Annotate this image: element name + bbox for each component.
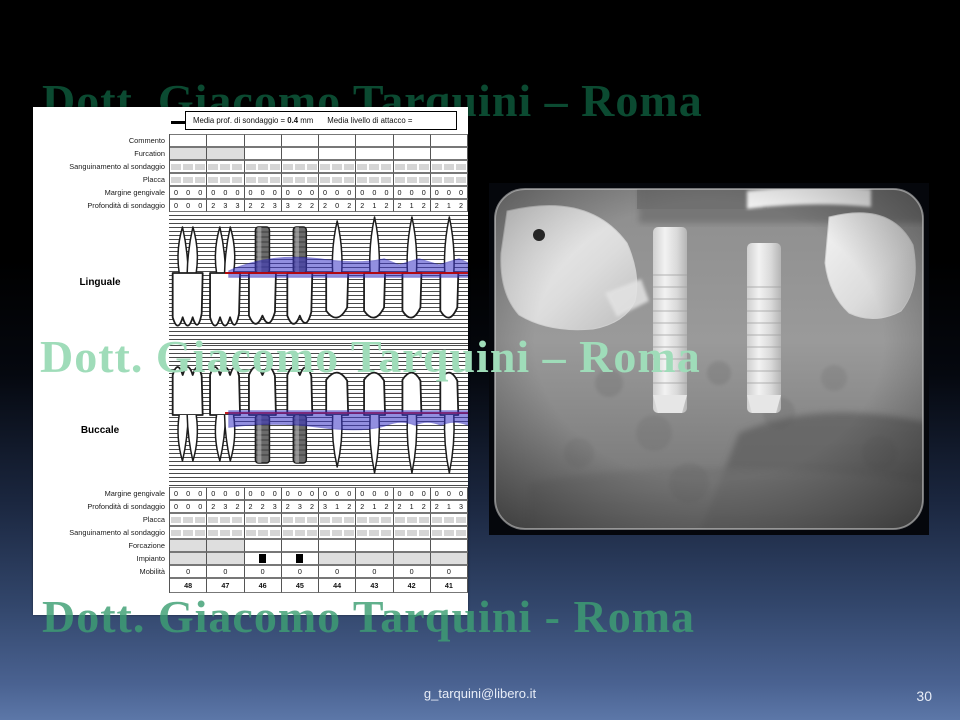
measurement-value: 1	[368, 501, 380, 512]
score-box[interactable]	[444, 164, 454, 170]
tooth-cell: 202	[319, 199, 356, 212]
tooth-cell: 212	[356, 500, 393, 513]
row-cells	[169, 539, 468, 552]
tooth-cell	[170, 526, 207, 539]
measurement-value: 0	[418, 187, 430, 198]
measurement-value: 0	[257, 488, 269, 499]
measurement-value: 2	[294, 200, 306, 211]
tooth-cell	[394, 160, 431, 173]
tooth-number: 45	[282, 579, 318, 592]
score-box[interactable]	[183, 517, 193, 523]
upper-measurements-table: CommentoFurcationSanguinamento al sondag…	[33, 134, 468, 212]
score-box[interactable]	[246, 530, 256, 536]
measurement-value: 0	[406, 488, 418, 499]
score-box[interactable]	[344, 164, 354, 170]
tooth-cell	[431, 147, 468, 160]
tooth-cell	[170, 160, 207, 173]
score-box[interactable]	[258, 164, 268, 170]
chart-row-profondita: Profondità di sondaggio00023222323231221…	[33, 500, 468, 513]
tooth-cell: 000	[394, 186, 431, 199]
tooth-cell	[207, 526, 244, 539]
periapical-radiograph-image	[489, 183, 929, 535]
measurement-value: 2	[257, 200, 269, 211]
measurement-value: 2	[394, 200, 406, 211]
tooth-cell: 000	[170, 186, 207, 199]
tooth-cell	[394, 134, 431, 147]
score-box[interactable]	[208, 530, 218, 536]
implant-marker	[259, 554, 266, 563]
tooth-cell: 232	[282, 500, 319, 513]
tooth-number-cell[interactable]: 48	[170, 578, 207, 593]
mobility-value: 0	[394, 566, 430, 577]
measurement-value: 0	[257, 187, 269, 198]
score-box[interactable]	[381, 177, 391, 183]
measurement-value: 0	[294, 488, 306, 499]
score-box[interactable]	[283, 517, 293, 523]
tooth-cell	[394, 552, 431, 565]
measurement-value: 0	[331, 200, 343, 211]
measurement-value: 0	[207, 187, 219, 198]
measurement-value: 0	[368, 488, 380, 499]
tooth-cell	[282, 147, 319, 160]
tooth-number-cell[interactable]: 45	[282, 578, 319, 593]
measurement-value: 2	[306, 501, 318, 512]
tooth-cell	[282, 134, 319, 147]
measurement-value: 2	[380, 501, 392, 512]
tooth-cell	[431, 552, 468, 565]
measurement-value: 2	[431, 200, 443, 211]
implant-marker	[296, 554, 303, 563]
tooth-cell	[207, 513, 244, 526]
tooth-cell	[207, 552, 244, 565]
measurement-value: 0	[431, 187, 443, 198]
tooth-cell	[207, 160, 244, 173]
score-box[interactable]	[456, 164, 466, 170]
measurement-value: 0	[443, 187, 455, 198]
measurement-value: 1	[406, 200, 418, 211]
score-box[interactable]	[320, 164, 330, 170]
score-box[interactable]	[171, 177, 181, 183]
tooth-cell	[245, 147, 282, 160]
score-box[interactable]	[183, 530, 193, 536]
chart-row-tooth-numbers: 4847464544434241	[33, 578, 468, 593]
measurement-value: 0	[356, 488, 368, 499]
measurement-value: 2	[207, 200, 219, 211]
tooth-cell: 000	[170, 500, 207, 513]
tooth-cell	[394, 173, 431, 186]
measurement-value: 3	[319, 501, 331, 512]
score-box[interactable]	[307, 177, 317, 183]
score-box[interactable]	[258, 177, 268, 183]
measurement-value: 2	[319, 200, 331, 211]
chart-row-margine: Margine gengivale00000000000000000000000…	[33, 487, 468, 500]
score-box[interactable]	[270, 530, 280, 536]
tooth-cell: 000	[245, 186, 282, 199]
score-box[interactable]	[195, 164, 205, 170]
measurement-value: 3	[294, 501, 306, 512]
footer-email: g_tarquini@libero.it	[0, 686, 960, 701]
tooth-cell: 000	[282, 186, 319, 199]
score-box[interactable]	[332, 177, 342, 183]
score-box[interactable]	[419, 530, 429, 536]
score-box[interactable]	[246, 164, 256, 170]
row-cells: 000000000000000000000000	[169, 186, 468, 199]
row-cells	[169, 173, 468, 186]
tooth-cell	[431, 160, 468, 173]
score-box[interactable]	[320, 530, 330, 536]
score-box[interactable]	[456, 517, 466, 523]
score-box[interactable]	[220, 517, 230, 523]
score-box[interactable]	[232, 177, 242, 183]
row-cells	[169, 134, 468, 147]
measurement-value: 0	[343, 187, 355, 198]
measurement-value: 0	[207, 488, 219, 499]
measurement-value: 2	[356, 501, 368, 512]
tooth-cell	[356, 134, 393, 147]
measurement-value: 1	[443, 501, 455, 512]
score-box[interactable]	[270, 177, 280, 183]
tooth-cell: 312	[319, 500, 356, 513]
score-box[interactable]	[419, 517, 429, 523]
score-box[interactable]	[332, 530, 342, 536]
row-label: Furcation	[33, 147, 169, 160]
tooth-cell	[394, 147, 431, 160]
tooth-cell: 0	[319, 565, 356, 578]
score-box[interactable]	[432, 164, 442, 170]
score-box[interactable]	[208, 177, 218, 183]
tooth-number-cell[interactable]: 41	[431, 578, 468, 593]
lower-measurements-table: Margine gengivale00000000000000000000000…	[33, 487, 468, 578]
score-box[interactable]	[171, 530, 181, 536]
score-box[interactable]	[381, 164, 391, 170]
mobility-value: 0	[245, 566, 281, 577]
score-box[interactable]	[381, 530, 391, 536]
score-box[interactable]	[320, 517, 330, 523]
score-box[interactable]	[195, 177, 205, 183]
tooth-cell: 000	[319, 487, 356, 500]
row-label: Placca	[33, 173, 169, 186]
tooth-cell	[431, 526, 468, 539]
row-label: Sanguinamento al sondaggio	[33, 526, 169, 539]
measurement-value: 2	[245, 501, 257, 512]
measurement-value: 2	[380, 200, 392, 211]
score-box[interactable]	[295, 177, 305, 183]
mean-probing-label: Media prof. di sondaggio =	[193, 116, 285, 125]
measurement-value: 0	[331, 187, 343, 198]
mobility-value: 0	[356, 566, 392, 577]
measurement-value: 2	[306, 200, 318, 211]
page-number: 30	[916, 688, 932, 704]
tooth-cell	[282, 173, 319, 186]
measurement-value: 0	[194, 488, 206, 499]
score-box[interactable]	[283, 530, 293, 536]
measurement-value: 0	[194, 187, 206, 198]
score-box[interactable]	[220, 530, 230, 536]
measurement-value: 0	[306, 187, 318, 198]
tooth-number: 42	[394, 579, 430, 592]
tooth-cell	[245, 526, 282, 539]
tooth-cell: 212	[356, 199, 393, 212]
score-box[interactable]	[357, 530, 367, 536]
tooth-cell: 232	[207, 500, 244, 513]
mean-probing-group: Media prof. di sondaggio = 0.4 mm	[193, 116, 313, 125]
tooth-cell: 212	[394, 199, 431, 212]
tooth-cell: 000	[394, 487, 431, 500]
measurement-value: 0	[443, 488, 455, 499]
tooth-number-cell[interactable]: 43	[356, 578, 393, 593]
score-box[interactable]	[407, 164, 417, 170]
score-box[interactable]	[270, 517, 280, 523]
measurement-value: 3	[269, 501, 281, 512]
row-label: Placca	[33, 513, 169, 526]
score-box[interactable]	[444, 517, 454, 523]
tooth-number-cell[interactable]: 44	[319, 578, 356, 593]
tooth-cell: 000	[356, 186, 393, 199]
dentition-diagram	[169, 215, 468, 487]
score-box[interactable]	[395, 530, 405, 536]
score-box[interactable]	[419, 164, 429, 170]
chart-row-sanguinamento: Sanguinamento al sondaggio	[33, 526, 468, 539]
score-box[interactable]	[307, 517, 317, 523]
score-box[interactable]	[419, 177, 429, 183]
tooth-cell: 0	[356, 565, 393, 578]
tooth-cell: 0	[282, 565, 319, 578]
tooth-cell: 0	[431, 565, 468, 578]
tooth-cell: 000	[245, 487, 282, 500]
tooth-cell: 223	[245, 199, 282, 212]
measurement-value: 2	[418, 501, 430, 512]
score-box[interactable]	[171, 517, 181, 523]
tooth-number-cell[interactable]: 42	[394, 578, 431, 593]
tooth-cell	[319, 552, 356, 565]
tooth-cell: 212	[394, 500, 431, 513]
score-box[interactable]	[344, 177, 354, 183]
tooth-cell: 000	[170, 199, 207, 212]
tooth-cell	[245, 513, 282, 526]
measurement-value: 0	[431, 488, 443, 499]
measurement-value: 0	[394, 187, 406, 198]
measurement-value: 0	[368, 187, 380, 198]
mean-attachment-group: Media livello di attacco =	[327, 116, 412, 125]
row-cells: 000233223322202212212212	[169, 199, 468, 212]
score-box[interactable]	[307, 530, 317, 536]
score-box[interactable]	[258, 530, 268, 536]
tooth-cell	[170, 173, 207, 186]
score-box[interactable]	[444, 530, 454, 536]
tooth-cell: 223	[245, 500, 282, 513]
tooth-cell	[245, 134, 282, 147]
score-box[interactable]	[395, 164, 405, 170]
score-box[interactable]	[195, 530, 205, 536]
row-label: Profondità di sondaggio	[33, 199, 169, 212]
row-label: Forcazione	[33, 539, 169, 552]
tooth-cell	[282, 552, 319, 565]
score-box[interactable]	[270, 164, 280, 170]
score-box[interactable]	[432, 517, 442, 523]
score-box[interactable]	[407, 530, 417, 536]
score-box[interactable]	[407, 177, 417, 183]
score-box[interactable]	[432, 530, 442, 536]
measurement-value: 0	[294, 187, 306, 198]
measurement-value: 0	[182, 501, 194, 512]
score-box[interactable]	[456, 177, 466, 183]
tooth-cell	[431, 173, 468, 186]
tooth-cell: 212	[431, 199, 468, 212]
chart-row-commento: Commento	[33, 134, 468, 147]
row-cells	[169, 552, 468, 565]
score-box[interactable]	[332, 164, 342, 170]
tooth-cell	[356, 552, 393, 565]
tooth-cell	[356, 513, 393, 526]
tooth-cell	[394, 513, 431, 526]
measurement-value: 0	[455, 187, 467, 198]
measurement-value: 2	[257, 501, 269, 512]
score-box[interactable]	[295, 164, 305, 170]
score-box[interactable]	[320, 177, 330, 183]
chart-row-placca: Placca	[33, 173, 468, 186]
score-box[interactable]	[432, 177, 442, 183]
measurement-value: 3	[455, 501, 467, 512]
measurement-value: 2	[231, 501, 243, 512]
tooth-number: 48	[170, 579, 206, 592]
measurement-value: 3	[219, 200, 231, 211]
tooth-cell: 0	[170, 565, 207, 578]
score-box[interactable]	[357, 177, 367, 183]
score-box[interactable]	[369, 517, 379, 523]
score-box[interactable]	[332, 517, 342, 523]
score-box[interactable]	[171, 164, 181, 170]
row-label: Impianto	[33, 552, 169, 565]
score-box[interactable]	[258, 517, 268, 523]
score-box[interactable]	[456, 530, 466, 536]
score-box[interactable]	[208, 517, 218, 523]
mobility-value: 0	[431, 566, 467, 577]
score-box[interactable]	[395, 517, 405, 523]
score-box[interactable]	[369, 164, 379, 170]
measurement-value: 0	[394, 488, 406, 499]
row-label: Margine gengivale	[33, 186, 169, 199]
tooth-cell	[319, 134, 356, 147]
score-box[interactable]	[369, 530, 379, 536]
tooth-cell	[207, 539, 244, 552]
row-cells: 000000000000000000000000	[169, 487, 468, 500]
measurement-value: 0	[380, 187, 392, 198]
score-box[interactable]	[232, 517, 242, 523]
chart-summary-box: Media prof. di sondaggio = 0.4 mm Media …	[185, 111, 457, 130]
score-box[interactable]	[395, 177, 405, 183]
tooth-cell	[319, 513, 356, 526]
measurement-value: 2	[343, 501, 355, 512]
row-label	[33, 578, 169, 593]
score-box[interactable]	[295, 517, 305, 523]
measurement-value: 0	[245, 488, 257, 499]
tooth-cell	[319, 539, 356, 552]
mean-probing-value: 0.4	[287, 116, 298, 125]
row-label: Profondità di sondaggio	[33, 500, 169, 513]
score-box[interactable]	[344, 530, 354, 536]
score-box[interactable]	[183, 164, 193, 170]
row-label: Commento	[33, 134, 169, 147]
measurement-value: 0	[170, 501, 182, 512]
score-box[interactable]	[444, 177, 454, 183]
score-box[interactable]	[407, 517, 417, 523]
score-box[interactable]	[295, 530, 305, 536]
tooth-cell: 0	[394, 565, 431, 578]
chart-row-placca: Placca	[33, 513, 468, 526]
measurement-value: 0	[319, 488, 331, 499]
tooth-cell	[170, 513, 207, 526]
row-cells	[169, 513, 468, 526]
row-cells	[169, 147, 468, 160]
score-box[interactable]	[344, 517, 354, 523]
measurement-value: 0	[219, 488, 231, 499]
score-box[interactable]	[246, 517, 256, 523]
measurement-value: 0	[380, 488, 392, 499]
tooth-cell	[207, 173, 244, 186]
measurement-value: 3	[231, 200, 243, 211]
measurement-value: 1	[443, 200, 455, 211]
slide-canvas: Dott. Giacomo Tarquini – Roma Media prof…	[0, 0, 960, 720]
tooth-cell: 213	[431, 500, 468, 513]
score-box[interactable]	[357, 164, 367, 170]
row-label: Sanguinamento al sondaggio	[33, 160, 169, 173]
measurement-value: 0	[455, 488, 467, 499]
score-box[interactable]	[283, 164, 293, 170]
tooth-cell: 000	[319, 186, 356, 199]
score-box[interactable]	[208, 164, 218, 170]
score-box[interactable]	[183, 177, 193, 183]
tooth-cell: 000	[207, 186, 244, 199]
tooth-cell	[282, 513, 319, 526]
tooth-cell: 233	[207, 199, 244, 212]
tooth-cell	[394, 526, 431, 539]
measurement-value: 0	[282, 488, 294, 499]
tooth-cell: 0	[207, 565, 244, 578]
measurement-value: 0	[182, 187, 194, 198]
score-box[interactable]	[381, 517, 391, 523]
measurement-value: 0	[343, 488, 355, 499]
score-box[interactable]	[246, 177, 256, 183]
tooth-number: 44	[319, 579, 355, 592]
tooth-cell	[431, 513, 468, 526]
arch-label-buccal: Buccale	[33, 425, 167, 436]
mean-probing-unit: mm	[300, 116, 313, 125]
score-box[interactable]	[357, 517, 367, 523]
measurement-value: 0	[194, 200, 206, 211]
measurement-value: 0	[170, 200, 182, 211]
periodontal-chart-card: Media prof. di sondaggio = 0.4 mm Media …	[33, 107, 468, 615]
tooth-number-cell[interactable]: 46	[245, 578, 282, 593]
chart-row-impianto: Impianto	[33, 552, 468, 565]
score-box[interactable]	[232, 530, 242, 536]
score-box[interactable]	[220, 177, 230, 183]
score-box[interactable]	[232, 164, 242, 170]
tooth-cell	[319, 147, 356, 160]
score-box[interactable]	[369, 177, 379, 183]
tooth-cell	[245, 173, 282, 186]
score-box[interactable]	[220, 164, 230, 170]
radiograph-panel	[489, 183, 929, 535]
score-box[interactable]	[195, 517, 205, 523]
score-box[interactable]	[283, 177, 293, 183]
tooth-cell	[356, 539, 393, 552]
measurement-value: 0	[231, 488, 243, 499]
row-cells: 4847464544434241	[169, 578, 468, 593]
tooth-cell	[245, 160, 282, 173]
tooth-cell	[170, 539, 207, 552]
tooth-number-cell[interactable]: 47	[207, 578, 244, 593]
score-box[interactable]	[307, 164, 317, 170]
